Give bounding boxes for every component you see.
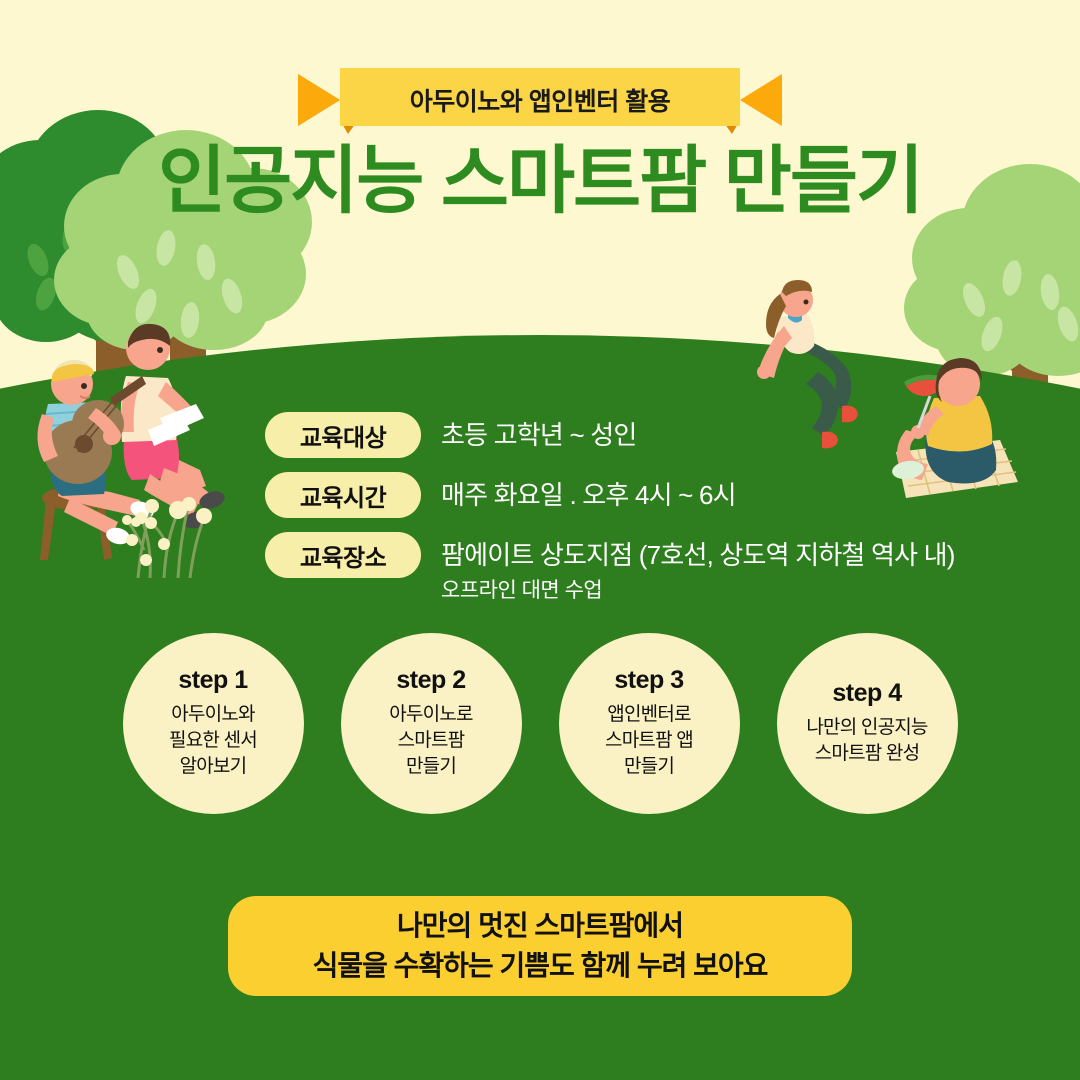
step-title-4: step 4 (832, 679, 901, 708)
info-value-target: 초등 고학년 ~ 성인 (441, 414, 637, 456)
steps-list: step 1 아두이노와필요한 센서알아보기 step 2 아두이노로스마트팜만… (0, 628, 1080, 818)
info-list: 교육대상 초등 고학년 ~ 성인 교육시간 매주 화요일 . 오후 4시 ~ 6… (265, 412, 1065, 620)
dandelion-flowers (122, 497, 212, 578)
info-row-time: 교육시간 매주 화요일 . 오후 4시 ~ 6시 (265, 472, 1065, 518)
ribbon-banner: 아두이노와 앱인벤터 활용 (0, 64, 1080, 136)
step-circle-1: step 1 아두이노와필요한 센서알아보기 (123, 633, 304, 814)
step-circle-2: step 2 아두이노로스마트팜만들기 (341, 633, 522, 814)
info-value-wrap-time: 매주 화요일 . 오후 4시 ~ 6시 (441, 472, 736, 516)
step-desc-4: 나만의 인공지능스마트팜 완성 (806, 715, 927, 767)
page-title: 인공지능 스마트팜 만들기 (0, 138, 1080, 224)
step-circle-3: step 3 앱인벤터로스마트팜 앱만들기 (559, 633, 740, 814)
step-circle-4: step 4 나만의 인공지능스마트팜 완성 (777, 633, 958, 814)
closing-banner: 나만의 멋진 스마트팜에서 식물을 수확하는 기쁨도 함께 누려 보아요 (228, 896, 852, 996)
info-label-time: 교육시간 (265, 472, 421, 518)
step-title-2: step 2 (396, 666, 465, 695)
info-label-place: 교육장소 (265, 532, 421, 578)
closing-banner-line-2: 식물을 수확하는 기쁨도 함께 누려 보아요 (313, 946, 768, 986)
step-desc-3: 앱인벤터로스마트팜 앱만들기 (605, 702, 693, 780)
info-row-target: 교육대상 초등 고학년 ~ 성인 (265, 412, 1065, 458)
person-reading-on-grass (121, 324, 227, 531)
guitar (44, 376, 146, 484)
step-desc-2: 아두이노로스마트팜만들기 (389, 702, 472, 780)
info-subvalue-place: 오프라인 대면 수업 (441, 576, 955, 606)
step-title-3: step 3 (614, 666, 683, 695)
info-label-target: 교육대상 (265, 412, 421, 458)
person-playing-guitar (37, 360, 156, 560)
step-title-1: step 1 (178, 666, 247, 695)
info-value-wrap-target: 초등 고학년 ~ 성인 (441, 412, 637, 456)
info-value-wrap-place: 팜에이트 상도지점 (7호선, 상도역 지하철 역사 내) 오프라인 대면 수업 (441, 532, 955, 606)
poster-canvas: 아두이노와 앱인벤터 활용 인공지능 스마트팜 만들기 교육대상 초등 고학년 … (0, 0, 1080, 1080)
info-value-time: 매주 화요일 . 오후 4시 ~ 6시 (441, 474, 736, 516)
ribbon-label: 아두이노와 앱인벤터 활용 (0, 64, 1080, 136)
info-value-place: 팜에이트 상도지점 (7호선, 상도역 지하철 역사 내) (441, 534, 955, 576)
step-desc-1: 아두이노와필요한 센서알아보기 (169, 702, 257, 780)
info-row-place: 교육장소 팜에이트 상도지점 (7호선, 상도역 지하철 역사 내) 오프라인 … (265, 532, 1065, 606)
closing-banner-line-1: 나만의 멋진 스마트팜에서 (397, 906, 683, 946)
